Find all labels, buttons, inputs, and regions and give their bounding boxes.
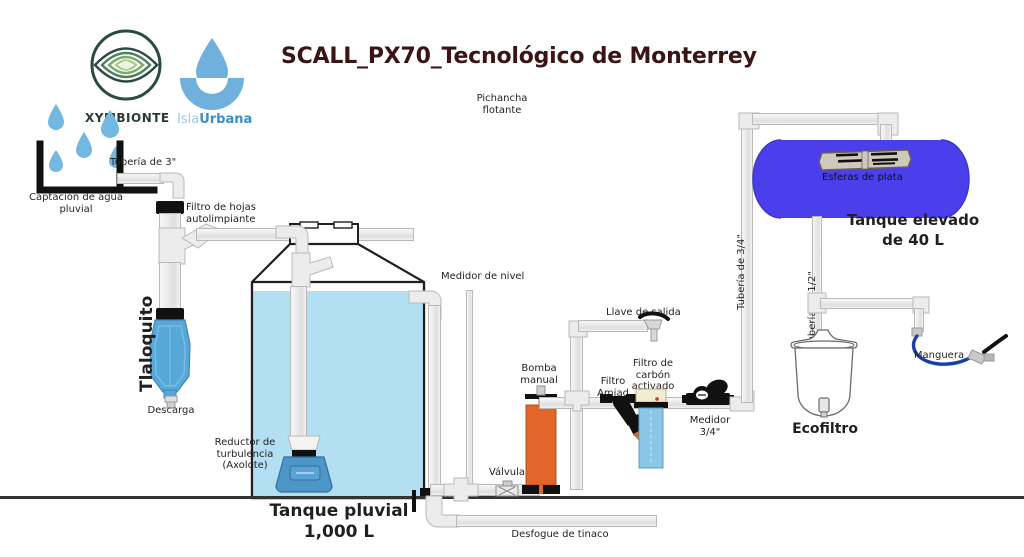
ecofiltro [786, 330, 862, 420]
pipe-to-faucet-horizontal [578, 320, 648, 332]
ground-tick-left [412, 490, 416, 512]
captacion-basin-icon [36, 144, 156, 196]
tuberia-34-label: Tubería de 3/4" [736, 234, 748, 310]
tanque-elevado-label: Tanque elevado de 40 L [833, 211, 993, 250]
xymbionte-logo [89, 28, 163, 102]
ecofiltro-label: Ecofiltro [780, 421, 870, 437]
tank-internal-tee [290, 253, 334, 289]
filtro-carbon-activado [634, 389, 668, 471]
medidor-nivel-tube [466, 290, 473, 486]
esferas-de-plata-label: Esferas de plata [822, 172, 903, 184]
desfogue-label: Desfogue de tinaco [470, 529, 650, 541]
medidor-34-label: Medidor 3/4" [679, 415, 741, 438]
axolote-reducer [276, 436, 334, 500]
pipe-down-to-tlaloquito [159, 262, 181, 312]
pipe-3in-horizontal [117, 173, 164, 184]
manguera-label: Manguera [903, 350, 975, 362]
desfogue-elbow [426, 496, 460, 530]
tlaloquito-label: Tlaloquito [138, 296, 158, 392]
valvula-icon [494, 481, 520, 499]
esferas-de-plata-cartridge [816, 148, 914, 172]
pichancha-label: Pichancha flotante [457, 93, 547, 116]
pipe-elbow-1 [160, 170, 188, 200]
pipe-desfogue-horizontal [456, 515, 657, 527]
descarga-label: Descarga [131, 405, 211, 417]
pipe-internal-downspout [290, 286, 307, 440]
medidor-34-icon [682, 379, 734, 413]
islaurbana-text-bold: Urbana [199, 112, 252, 127]
llave-salida-faucet [640, 313, 674, 345]
tuberia-3in-label: Tubería de 3" [110, 157, 176, 169]
tanque-pluvial-label: Tanque pluvial 1,000 L [259, 501, 419, 544]
pipe-34-top-horizontal [752, 113, 886, 125]
captacion-label: Captación de agua pluvial [16, 192, 136, 215]
islaurbana-logo [176, 34, 248, 106]
bomba-manual-label: Bomba manual [508, 363, 570, 386]
medidor-nivel-label: Medidor de nivel [441, 271, 524, 283]
filtro-carbon-label: Filtro de carbón activado [622, 358, 684, 393]
rainwater-harvesting-diagram: SCALL_PX70_Tecnológico de Monterrey XYMB… [0, 0, 1024, 557]
axolote-label: Reductor de turbulencia (Axolote) [206, 437, 284, 472]
pipe-12-to-hose-horizontal [820, 298, 918, 309]
page-title: SCALL_PX70_Tecnológico de Monterrey [281, 44, 757, 69]
islaurbana-logo-text: IslaUrbana [177, 112, 252, 127]
tank-inlet-elbow [402, 222, 436, 256]
pipe-tee-riser [565, 391, 589, 413]
islaurbana-text-light: Isla [177, 112, 199, 127]
pipe-tank-outlet-vertical [428, 305, 441, 490]
